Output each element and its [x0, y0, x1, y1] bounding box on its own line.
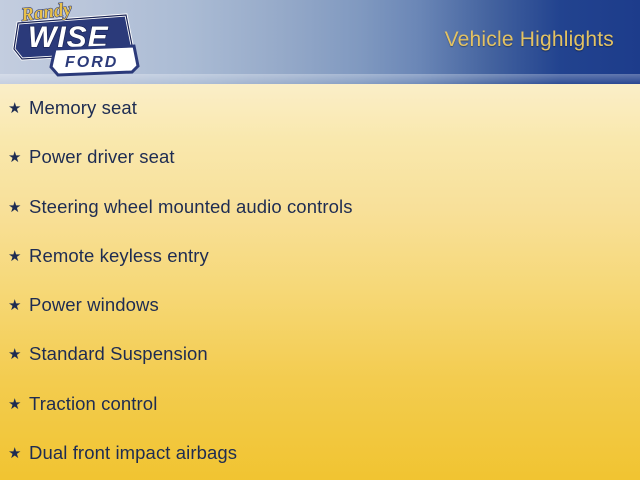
page-title: Vehicle Highlights [445, 28, 614, 52]
star-icon: ★ [8, 397, 29, 412]
list-item: ★ Power driver seat [8, 144, 632, 170]
feature-label: Standard Suspension [29, 345, 208, 364]
star-icon: ★ [8, 200, 29, 215]
logo-ford-text: FORD [65, 54, 118, 71]
star-icon: ★ [8, 101, 29, 116]
star-icon: ★ [8, 150, 29, 165]
logo-artwork: WISE Randy FORD [8, 1, 140, 81]
feature-label: Memory seat [29, 99, 137, 118]
randy-wise-ford-logo[interactable]: WISE Randy FORD [8, 1, 140, 81]
vehicle-highlights-slide: Vehicle Highlights WISE Randy FORD ★ Mem… [0, 0, 640, 480]
list-item: ★ Steering wheel mounted audio controls [8, 194, 632, 220]
star-icon: ★ [8, 298, 29, 313]
feature-label: Traction control [29, 395, 157, 414]
feature-label: Remote keyless entry [29, 247, 209, 266]
list-item: ★ Memory seat [8, 95, 632, 121]
star-icon: ★ [8, 446, 29, 461]
vehicle-highlights-list: ★ Memory seat ★ Power driver seat ★ Stee… [0, 84, 640, 480]
feature-label: Steering wheel mounted audio controls [29, 198, 353, 217]
list-item: ★ Power windows [8, 292, 632, 318]
list-item: ★ Remote keyless entry [8, 243, 632, 269]
feature-label: Power windows [29, 296, 159, 315]
feature-label: Dual front impact airbags [29, 444, 237, 463]
star-icon: ★ [8, 249, 29, 264]
feature-label: Power driver seat [29, 148, 175, 167]
star-icon: ★ [8, 347, 29, 362]
list-item: ★ Dual front impact airbags [8, 440, 632, 466]
list-item: ★ Standard Suspension [8, 341, 632, 367]
list-item: ★ Traction control [8, 391, 632, 417]
